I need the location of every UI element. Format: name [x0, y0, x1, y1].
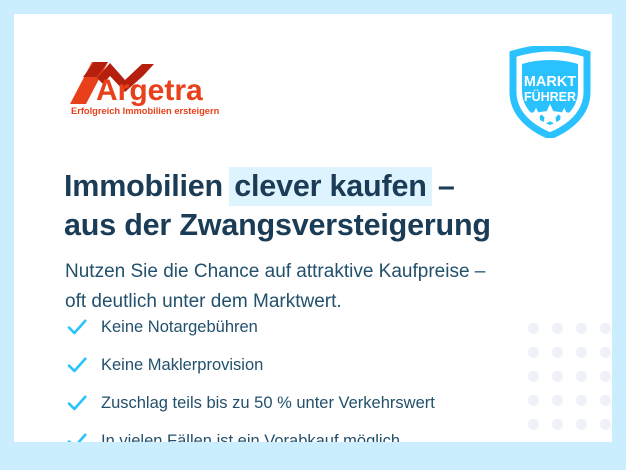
headline-line-1: Immobilien clever kaufen –: [64, 167, 534, 206]
feature-label: Zuschlag teils bis zu 50 % unter Verkehr…: [101, 392, 435, 414]
decorative-dot: [600, 323, 611, 334]
decorative-dot: [552, 419, 563, 430]
decorative-dot: [600, 395, 611, 406]
decorative-dot: [552, 371, 563, 382]
badge-line-1: MARKT: [524, 74, 576, 90]
decorative-dot: [528, 395, 539, 406]
feature-label: Keine Notargebühren: [101, 316, 258, 338]
argetra-logo[interactable]: Argetra Erfolgreich Immobilien ersteiger…: [70, 56, 222, 118]
list-item: Keine Maklerprovision: [66, 350, 435, 380]
logo-tagline: Erfolgreich Immobilien ersteigern: [71, 106, 220, 116]
decorative-dot: [600, 371, 611, 382]
headline-highlight: clever kaufen: [229, 167, 431, 206]
decorative-dot-grid: [521, 316, 612, 442]
decorative-dot: [528, 371, 539, 382]
decorative-dot: [528, 419, 539, 430]
decorative-dot: [576, 395, 587, 406]
decorative-dot: [600, 419, 611, 430]
page-subtitle: Nutzen Sie die Chance auf attraktive Kau…: [65, 257, 545, 317]
page-title: Immobilien clever kaufen – aus der Zwang…: [64, 167, 534, 245]
list-item: In vielen Fällen ist ein Vorabkauf mögli…: [66, 426, 435, 442]
decorative-dot: [576, 419, 587, 430]
feature-label: Keine Maklerprovision: [101, 354, 263, 376]
decorative-dot: [552, 347, 563, 358]
decorative-dot: [552, 323, 563, 334]
decorative-dot: [528, 323, 539, 334]
decorative-dot: [576, 371, 587, 382]
check-icon: [66, 392, 88, 414]
subtitle-line-1: Nutzen Sie die Chance auf attraktive Kau…: [65, 257, 545, 287]
market-leader-badge: MARKT FÜHRER: [507, 46, 593, 138]
feature-list: Keine Notargebühren Keine Maklerprovisio…: [66, 312, 435, 442]
badge-line-2: FÜHRER: [524, 89, 576, 104]
check-icon: [66, 316, 88, 338]
logo-wordmark: Argetra: [96, 74, 203, 107]
promo-banner: Argetra Erfolgreich Immobilien ersteiger…: [0, 0, 626, 470]
banner-card: Argetra Erfolgreich Immobilien ersteiger…: [14, 14, 612, 442]
headline-prefix: Immobilien: [64, 169, 231, 203]
decorative-dot: [528, 347, 539, 358]
check-icon: [66, 430, 88, 442]
decorative-dot: [576, 323, 587, 334]
decorative-dot: [552, 395, 563, 406]
list-item: Keine Notargebühren: [66, 312, 435, 342]
decorative-dot: [600, 347, 611, 358]
feature-label: In vielen Fällen ist ein Vorabkauf mögli…: [101, 430, 400, 442]
headline-line-2: aus der Zwangsversteigerung: [64, 206, 534, 245]
check-icon: [66, 354, 88, 376]
list-item: Zuschlag teils bis zu 50 % unter Verkehr…: [66, 388, 435, 418]
headline-suffix: –: [430, 169, 455, 203]
decorative-dot: [576, 347, 587, 358]
